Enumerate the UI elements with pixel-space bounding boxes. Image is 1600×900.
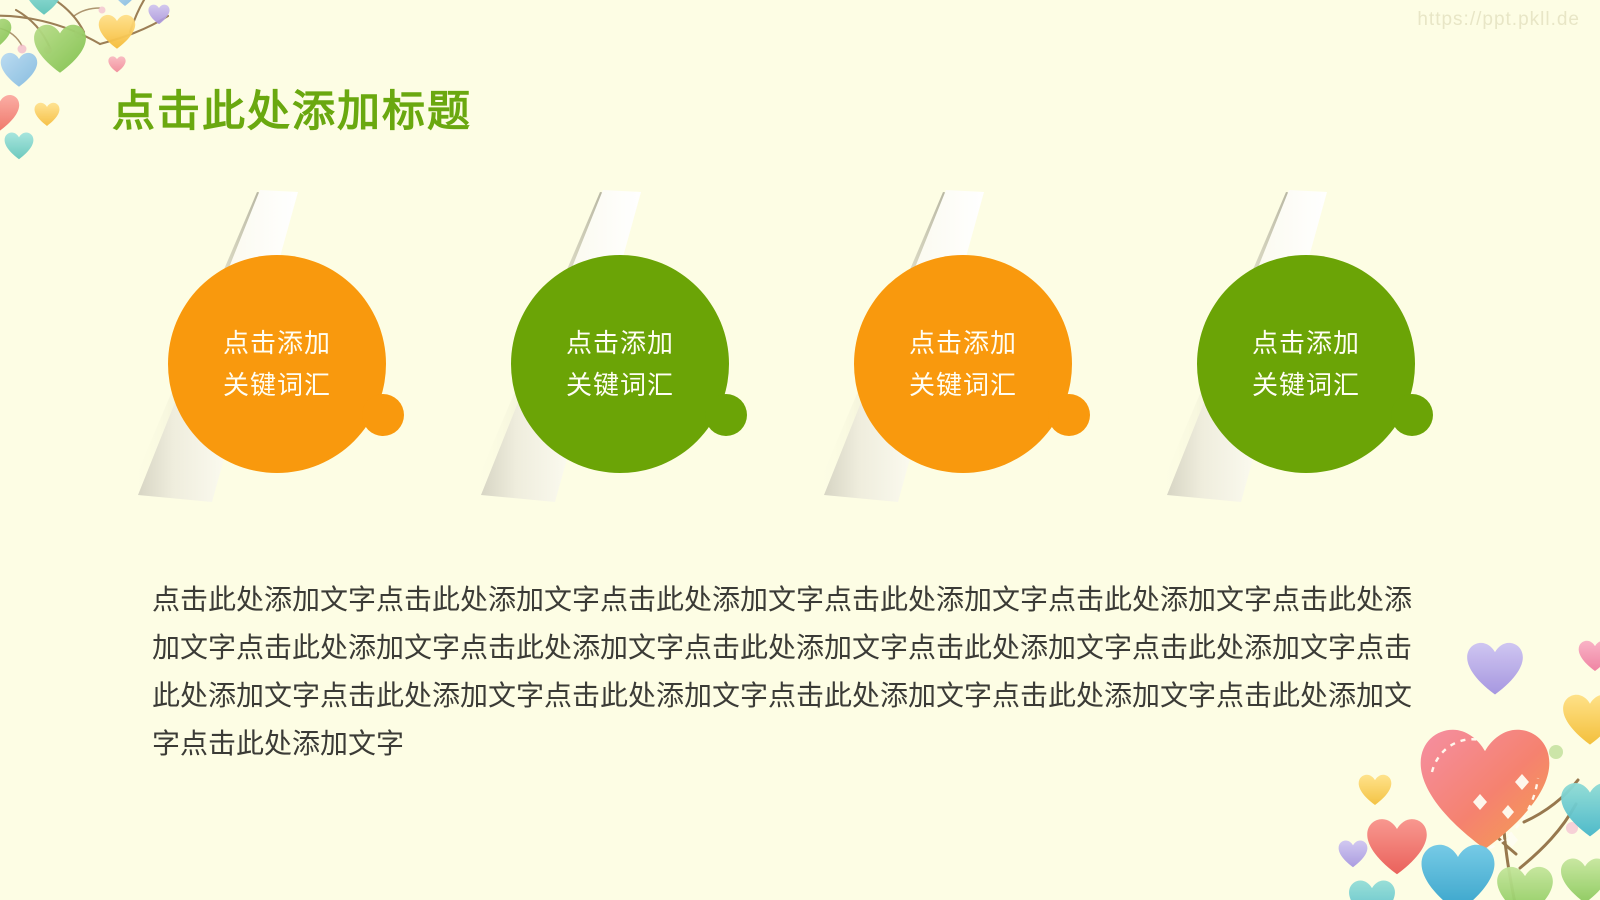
keyword-bubble-label-1: 点击添加 关键词汇 — [168, 322, 386, 406]
keyword-line-2b: 关键词汇 — [511, 364, 729, 406]
keyword-bubble-2[interactable]: 点击添加 关键词汇 — [511, 255, 729, 473]
page-title: 点击此处添加标题 — [112, 87, 472, 139]
watermark-url: https://ppt.pkll.de — [1417, 9, 1580, 31]
keyword-card-1[interactable]: 点击添加 关键词汇 — [120, 190, 460, 510]
keyword-card-3[interactable]: 点击添加 关键词汇 — [806, 190, 1146, 510]
keyword-line-1a: 点击添加 — [168, 322, 386, 364]
keyword-line-1b: 关键词汇 — [168, 364, 386, 406]
keyword-card-4[interactable]: 点击添加 关键词汇 — [1149, 190, 1489, 510]
keyword-bubble-4[interactable]: 点击添加 关键词汇 — [1197, 255, 1415, 473]
keyword-line-3a: 点击添加 — [854, 322, 1072, 364]
keyword-cards-row: 点击添加 关键词汇 — [0, 190, 1600, 510]
keyword-line-2a: 点击添加 — [511, 322, 729, 364]
keyword-bubble-label-4: 点击添加 关键词汇 — [1197, 322, 1415, 406]
keyword-card-2[interactable]: 点击添加 关键词汇 — [463, 190, 803, 510]
keyword-line-4b: 关键词汇 — [1197, 364, 1415, 406]
keyword-bubble-label-3: 点击添加 关键词汇 — [854, 322, 1072, 406]
slide-canvas: https://ppt.pkll.de 点击此处添加标题 — [0, 0, 1600, 900]
keyword-line-3b: 关键词汇 — [854, 364, 1072, 406]
keyword-bubble-1[interactable]: 点击添加 关键词汇 — [168, 255, 386, 473]
body-paragraph: 点击此处添加文字点击此处添加文字点击此处添加文字点击此处添加文字点击此处添加文字… — [152, 576, 1414, 769]
keyword-bubble-label-2: 点击添加 关键词汇 — [511, 322, 729, 406]
keyword-bubble-3[interactable]: 点击添加 关键词汇 — [854, 255, 1072, 473]
keyword-line-4a: 点击添加 — [1197, 322, 1415, 364]
